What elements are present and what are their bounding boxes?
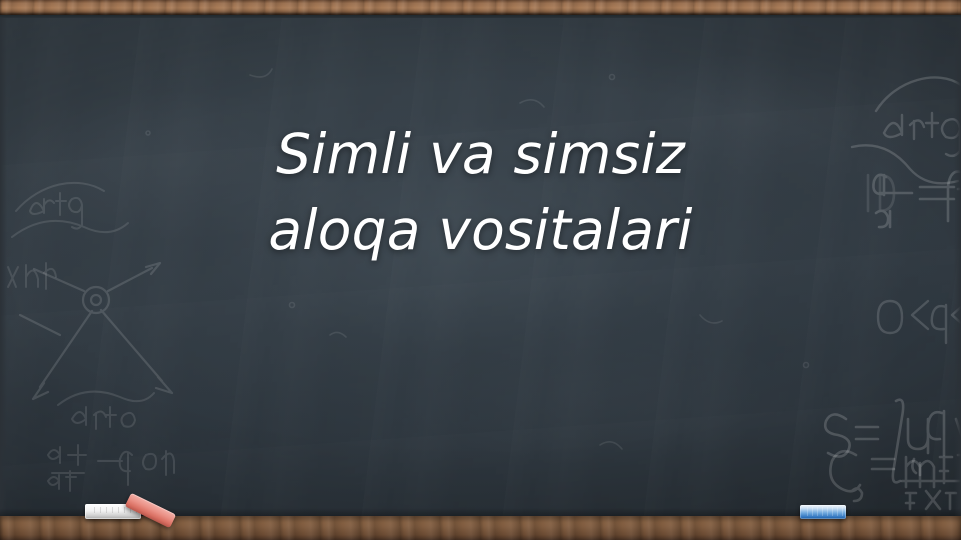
chalk-inequality-right <box>878 301 961 343</box>
wooden-chalk-ledge <box>0 516 961 540</box>
chalk-blue <box>800 505 846 519</box>
chalk-formula-derivative-left <box>48 392 174 491</box>
chalkboard-slide: Simli va simsiz aloqa vositalari <box>0 0 961 540</box>
chalk-smudge-texture <box>0 15 961 516</box>
wooden-frame-right-edge <box>954 15 961 516</box>
chalk-binomial-right <box>830 451 961 509</box>
wooden-frame-left-edge <box>0 15 7 516</box>
chalk-formula-arctg-right <box>852 77 961 183</box>
chalk-formula-fx-right <box>868 172 961 227</box>
wooden-frame-top <box>0 0 961 15</box>
chalkboard-surface <box>0 15 961 516</box>
chalk-compass-drawing <box>20 263 172 399</box>
chalk-art-layer <box>0 15 961 516</box>
chalk-formula-arctg-left <box>8 183 128 289</box>
chalk-dust-marks <box>146 69 809 449</box>
chalk-integral-right <box>825 400 961 483</box>
